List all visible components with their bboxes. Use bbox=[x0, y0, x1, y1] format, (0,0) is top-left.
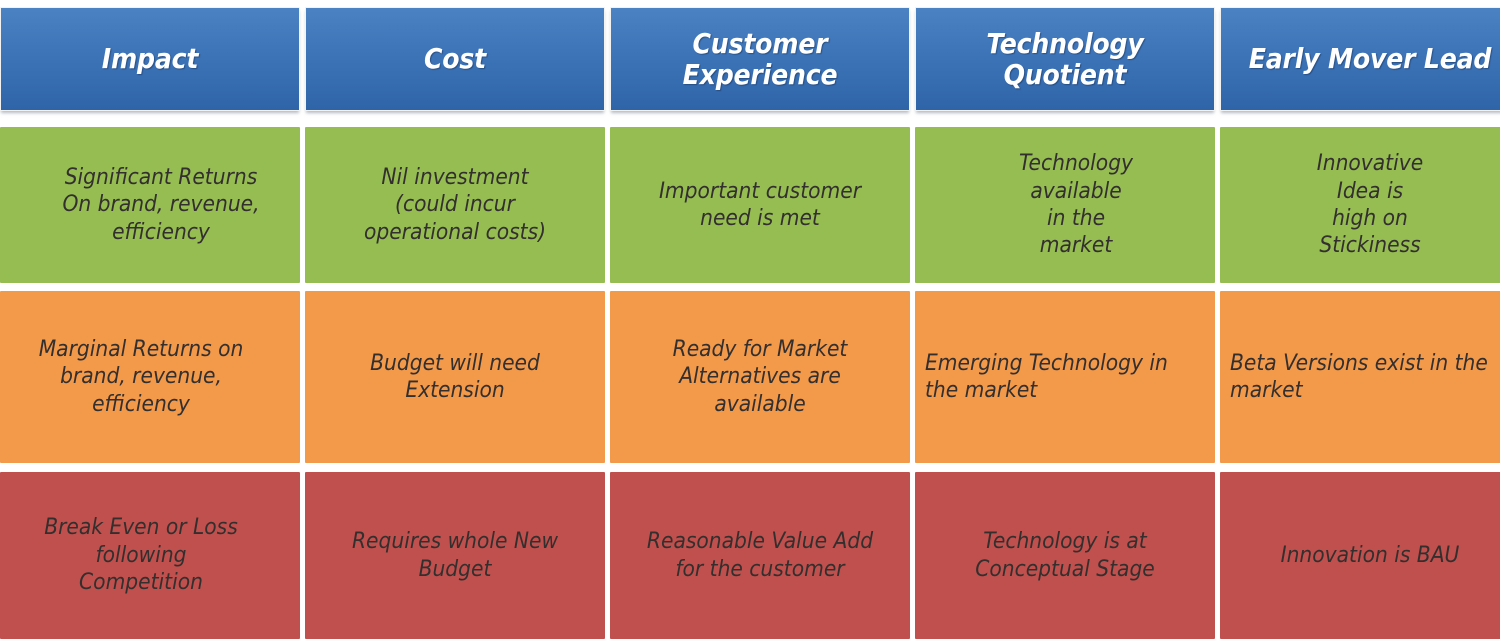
column-header-label: Customer Experience bbox=[621, 28, 899, 91]
matrix-cell[interactable]: Requires whole New Budget bbox=[305, 472, 605, 639]
matrix-row-low: Break Even or Loss following Competition… bbox=[0, 472, 1500, 639]
matrix-cell[interactable]: Significant Returns On brand, revenue, e… bbox=[0, 127, 300, 283]
cell-text: Innovation is BAU bbox=[1230, 542, 1500, 569]
column-header-cost[interactable]: Cost bbox=[305, 7, 605, 111]
cell-text: Technology available in the market bbox=[925, 150, 1205, 260]
matrix-cell[interactable]: Marginal Returns on brand, revenue, effi… bbox=[0, 291, 300, 463]
matrix-row-medium: Marginal Returns on brand, revenue, effi… bbox=[0, 291, 1500, 463]
cell-text: Significant Returns On brand, revenue, e… bbox=[10, 164, 290, 246]
matrix-cell[interactable]: Beta Versions exist in the market bbox=[1220, 291, 1500, 463]
matrix-cell[interactable]: Nil investment (could incur operational … bbox=[305, 127, 605, 283]
column-header-label: Early Mover Lead bbox=[1249, 43, 1492, 74]
matrix-cell[interactable]: Technology available in the market bbox=[915, 127, 1215, 283]
evaluation-matrix: Impact Cost Customer Experience Technolo… bbox=[0, 0, 1500, 639]
matrix-cell[interactable]: Reasonable Value Add for the customer bbox=[610, 472, 910, 639]
cell-text: Break Even or Loss following Competition bbox=[10, 514, 290, 596]
matrix-cell[interactable]: Technology is at Conceptual Stage bbox=[915, 472, 1215, 639]
cell-text: Nil investment (could incur operational … bbox=[315, 164, 595, 246]
matrix-header-row: Impact Cost Customer Experience Technolo… bbox=[0, 7, 1500, 111]
matrix-cell[interactable]: Important customer need is met bbox=[610, 127, 910, 283]
column-header-customer-experience[interactable]: Customer Experience bbox=[610, 7, 910, 111]
matrix-row-high: Significant Returns On brand, revenue, e… bbox=[0, 127, 1500, 283]
column-header-label: Technology Quotient bbox=[926, 28, 1204, 91]
column-header-impact[interactable]: Impact bbox=[0, 7, 300, 111]
cell-text: Requires whole New Budget bbox=[315, 528, 595, 583]
matrix-cell[interactable]: Break Even or Loss following Competition bbox=[0, 472, 300, 639]
column-header-label: Impact bbox=[102, 43, 198, 74]
matrix-cell[interactable]: Ready for Market Alternatives are availa… bbox=[610, 291, 910, 463]
cell-text: Beta Versions exist in the market bbox=[1230, 350, 1500, 405]
column-header-early-mover-lead[interactable]: Early Mover Lead bbox=[1220, 7, 1500, 111]
matrix-cell[interactable]: Budget will need Extension bbox=[305, 291, 605, 463]
matrix-cell[interactable]: Emerging Technology in the market bbox=[915, 291, 1215, 463]
cell-text: Reasonable Value Add for the customer bbox=[620, 528, 900, 583]
matrix-cell[interactable]: Innovation is BAU bbox=[1220, 472, 1500, 639]
cell-text: Budget will need Extension bbox=[315, 350, 595, 405]
column-header-label: Cost bbox=[424, 43, 486, 74]
cell-text: Important customer need is met bbox=[620, 178, 900, 233]
cell-text: Technology is at Conceptual Stage bbox=[925, 528, 1205, 583]
column-header-technology-quotient[interactable]: Technology Quotient bbox=[915, 7, 1215, 111]
cell-text: Marginal Returns on brand, revenue, effi… bbox=[10, 336, 290, 418]
matrix-cell[interactable]: Innovative Idea is high on Stickiness bbox=[1220, 127, 1500, 283]
cell-text: Emerging Technology in the market bbox=[925, 350, 1205, 405]
cell-text: Innovative Idea is high on Stickiness bbox=[1230, 150, 1500, 260]
cell-text: Ready for Market Alternatives are availa… bbox=[620, 336, 900, 418]
